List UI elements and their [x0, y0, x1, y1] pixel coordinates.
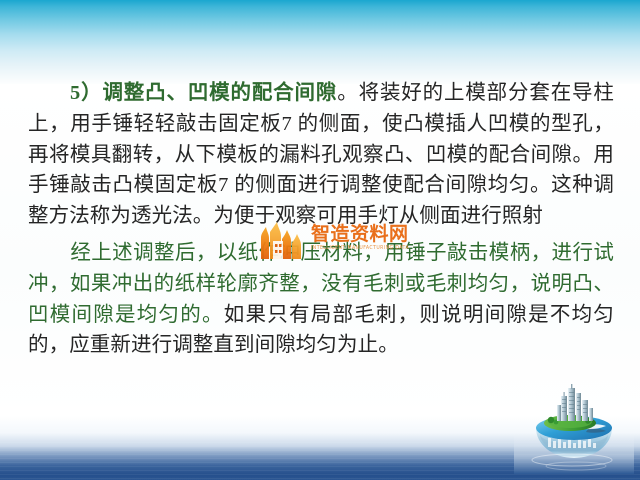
header-gradient-band: [0, 0, 640, 86]
paragraph-2: 经上述调整后，以纸作冲压材料，用锤子敲击模柄，进行试冲，如果冲出的纸样轮廓齐整，…: [28, 238, 614, 361]
globe-city-graphic: [514, 382, 634, 474]
slide-text-body: 5）调整凸、凹模的配合间隙。将装好的上模部分套在导柱上，用手锤轻轻敲击固定板7 …: [28, 78, 614, 361]
paragraph-1: 5）调整凸、凹模的配合间隙。将装好的上模部分套在导柱上，用手锤轻轻敲击固定板7 …: [28, 78, 614, 232]
slide-canvas: 5）调整凸、凹模的配合间隙。将装好的上模部分套在导柱上，用手锤轻轻敲击固定板7 …: [0, 0, 640, 480]
paragraph-1-heading: 5）调整凸、凹模的配合间隙: [70, 82, 337, 104]
